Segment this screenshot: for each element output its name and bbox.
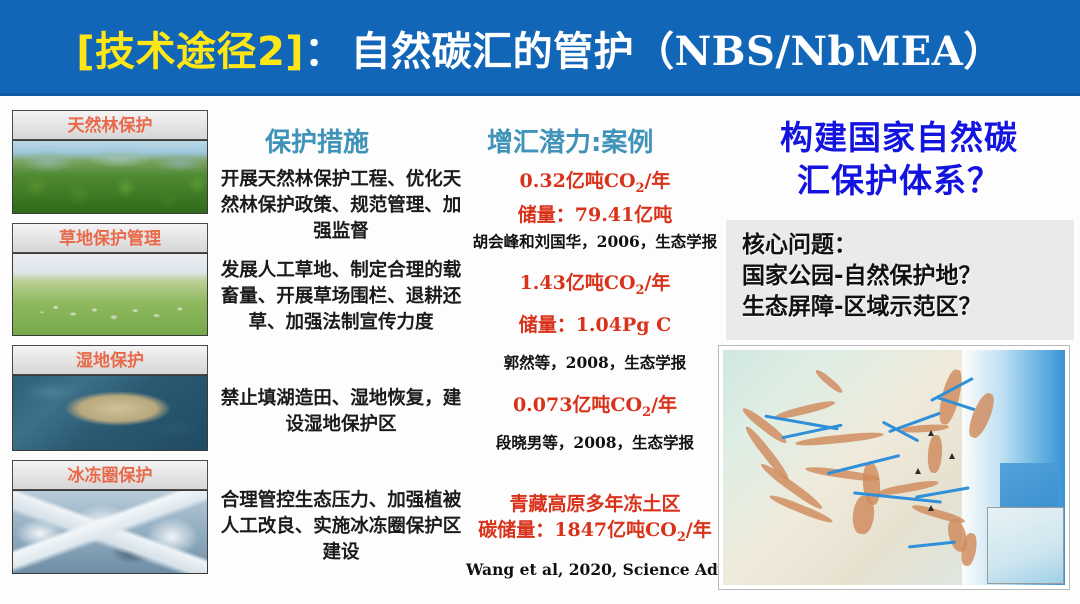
potential-value-cryosphere-2: 碳储量：1847亿吨CO2/年 [466,517,724,551]
measure-text-grassland: 发展人工草地、制定合理的载畜量、开展草场围栏、退耕还草、加强法制宣传力度 [218,258,464,336]
potential-value-grassland-2: 储量：1.04Pg C [466,312,724,338]
slide-title: [技术途径2] ： 自然碳汇的管护 （ NBS/NbMEA ） [76,19,1004,77]
core-question-2: 生态屏障-区域示范区？ [742,292,1074,323]
map-peak-marker-0 [928,430,934,436]
left-block-forest: 天然林保护 [12,110,208,214]
potential-value-grassland-1: 1.43亿吨CO2/年 [466,270,724,304]
measure-text-cryosphere: 合理管控生态压力、加强植被人工改良、实施冰冻圈保护区建设 [218,488,464,566]
potential-value-wetland-1: 0.073亿吨CO2/年 [466,392,724,426]
potential-value-forest-1: 0.32亿吨CO2/年 [466,168,724,202]
citation-forest: 胡会峰和刘国华，2006，生态学报 [466,231,724,253]
title-main: 自然碳汇的管护 [351,19,635,77]
wetland-photo [12,375,208,451]
caption-wetland: 湿地保护 [12,345,208,375]
map-range-12 [927,434,943,472]
column-header-potential: 增汇潜力:案例 [487,122,653,159]
left-block-wetland: 湿地保护 [12,345,208,451]
potential-block-forest: 0.32亿吨CO2/年 储量：79.41亿吨 胡会峰和刘国华，2006，生态学报 [466,168,724,253]
column-header-measures: 保护措施 [265,122,369,159]
left-block-cryosphere: 冰冻圈保护 [12,460,208,574]
right-panel-heading: 构建国家自然碳 汇保护体系？ [726,116,1072,202]
grassland-photo [12,253,208,336]
core-question-1: 国家公园-自然保护地？ [742,261,1074,292]
map-river-9 [908,540,956,548]
citation-cryosphere: Wang et al, 2020, Science Advance [466,559,724,581]
title-paren-open: （ [634,19,675,77]
forest-photo [12,140,208,214]
map-range-7 [814,368,845,395]
potential-value-cryosphere-1: 青藏高原多年冻土区 [466,491,724,517]
potential-block-grassland: 1.43亿吨CO2/年 储量：1.04Pg C 郭然等，2008，生态学报 [466,270,724,374]
right-heading-line-1: 构建国家自然碳 [726,116,1072,159]
potential-value-forest-2: 储量：79.41亿吨 [466,202,724,228]
caption-cryosphere: 冰冻圈保护 [12,460,208,490]
title-paren-close: ） [963,19,1004,77]
title-acronym: NBS/NbMEA [675,28,964,75]
caption-grassland: 草地保护管理 [12,223,208,253]
map-peak-marker-3 [928,505,934,511]
potential-block-cryosphere: 青藏高原多年冻土区 碳储量：1847亿吨CO2/年 Wang et al, 20… [466,491,724,581]
china-topographic-map [718,345,1070,590]
core-question-title: 核心问题： [742,230,1074,261]
citation-wetland: 段晓男等，2008，生态学报 [466,432,724,454]
title-colon: ： [304,19,345,77]
map-canvas [723,350,1065,585]
cryosphere-photo [12,490,208,574]
measure-text-wetland: 禁止填湖造田、湿地恢复，建设湿地保护区 [218,386,464,438]
citation-grassland: 郭然等，2008，生态学报 [466,352,724,374]
potential-block-wetland: 0.073亿吨CO2/年 段晓男等，2008，生态学报 [466,392,724,454]
slide-title-bar: [技术途径2] ： 自然碳汇的管护 （ NBS/NbMEA ） [0,0,1080,96]
map-peak-marker-1 [949,453,955,459]
right-heading-line-2: 汇保护体系？ [726,159,1072,202]
measure-text-forest: 开展天然林保护工程、优化天然林保护政策、规范管理、加强监督 [218,167,464,245]
map-peak-marker-2 [915,468,921,474]
slide-root: [技术途径2] ： 自然碳汇的管护 （ NBS/NbMEA ） 天然林保护 草地… [0,0,1080,604]
core-questions-box: 核心问题： 国家公园-自然保护地？ 生态屏障-区域示范区？ [726,220,1074,340]
left-photo-column: 天然林保护 草地保护管理 湿地保护 冰冻圈保护 [12,110,208,596]
title-bracket: [技术途径2] [76,19,304,77]
caption-natural-forest: 天然林保护 [12,110,208,140]
map-inset-south-china-sea [987,507,1064,584]
left-block-grassland: 草地保护管理 [12,223,208,336]
